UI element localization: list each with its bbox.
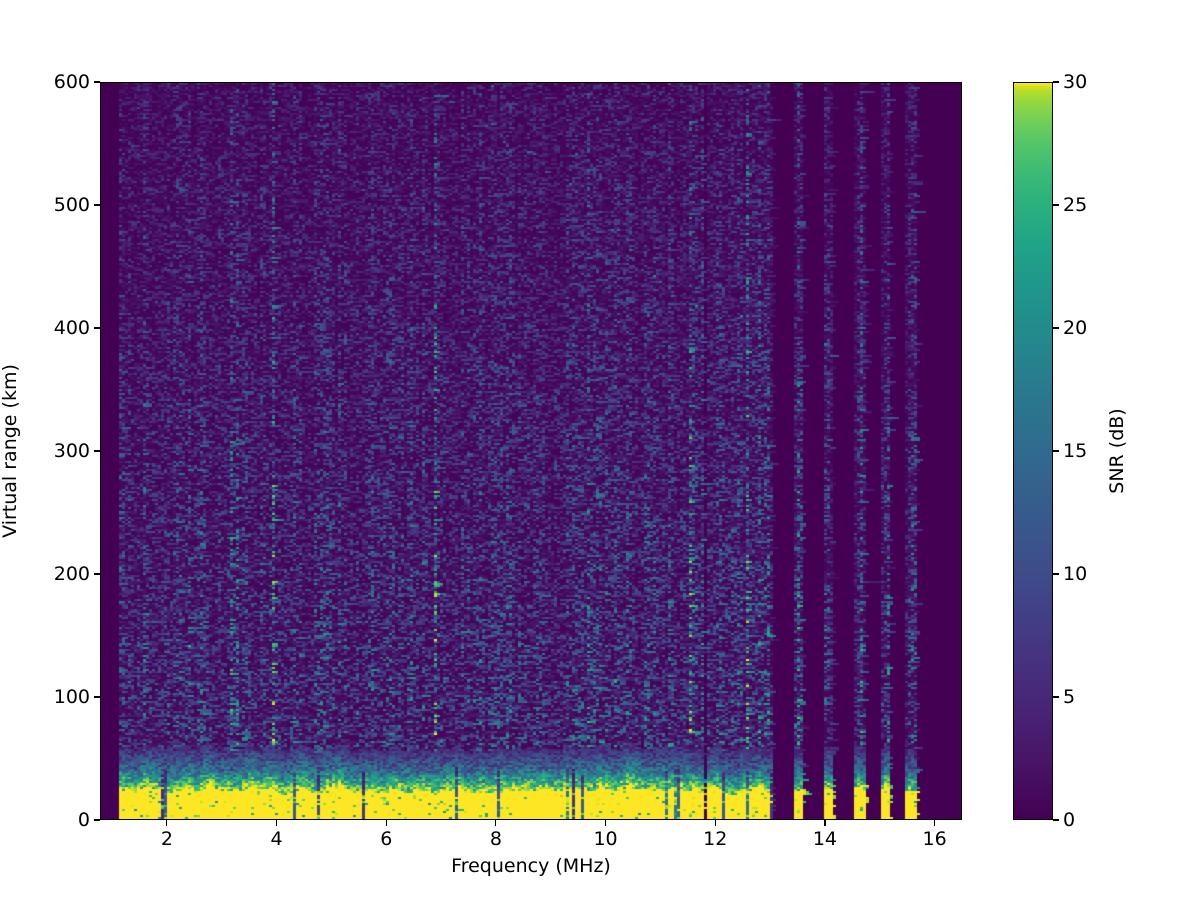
y-tick-mark	[94, 450, 100, 451]
x-tick-label: 10	[593, 828, 617, 850]
colorbar[interactable]	[1013, 82, 1053, 820]
x-tick-label: 4	[271, 828, 283, 850]
x-tick-mark	[495, 820, 496, 826]
colorbar-tick-mark	[1053, 327, 1059, 328]
colorbar-tick-label: 0	[1063, 809, 1075, 831]
colorbar-tick-mark	[1053, 819, 1059, 820]
colorbar-tick-label: 20	[1063, 317, 1087, 339]
x-tick-label: 16	[922, 828, 946, 850]
y-tick-mark	[94, 696, 100, 697]
colorbar-label: SNR (dB)	[1106, 408, 1128, 493]
y-tick-label: 100	[54, 686, 90, 708]
x-tick-label: 14	[813, 828, 837, 850]
x-tick-mark	[824, 820, 825, 826]
ionogram-heatmap	[101, 83, 961, 819]
x-tick-label: 6	[380, 828, 392, 850]
x-tick-label: 12	[703, 828, 727, 850]
colorbar-tick-mark	[1053, 696, 1059, 697]
colorbar-tick-label: 5	[1063, 686, 1075, 708]
y-tick-mark	[94, 327, 100, 328]
colorbar-tick-mark	[1053, 204, 1059, 205]
y-tick-mark	[94, 573, 100, 574]
colorbar-tick-label: 15	[1063, 440, 1087, 462]
plot-area[interactable]	[100, 82, 962, 820]
colorbar-tick-mark	[1053, 81, 1059, 82]
x-tick-label: 2	[161, 828, 173, 850]
y-tick-label: 300	[54, 440, 90, 462]
colorbar-tick-mark	[1053, 450, 1059, 451]
y-tick-label: 0	[78, 809, 90, 831]
x-axis-label: Frequency (MHz)	[451, 855, 611, 877]
x-tick-mark	[934, 820, 935, 826]
x-tick-mark	[715, 820, 716, 826]
colorbar-tick-label: 25	[1063, 194, 1087, 216]
y-tick-mark	[94, 81, 100, 82]
x-tick-mark	[386, 820, 387, 826]
x-tick-label: 8	[490, 828, 502, 850]
colorbar-tick-label: 10	[1063, 563, 1087, 585]
y-tick-label: 500	[54, 194, 90, 216]
y-tick-label: 400	[54, 317, 90, 339]
y-tick-label: 600	[54, 71, 90, 93]
colorbar-tick-mark	[1053, 573, 1059, 574]
x-tick-mark	[166, 820, 167, 826]
y-axis-label: Virtual range (km)	[0, 364, 21, 538]
x-tick-mark	[605, 820, 606, 826]
y-tick-label: 200	[54, 563, 90, 585]
x-tick-mark	[276, 820, 277, 826]
y-tick-mark	[94, 204, 100, 205]
y-tick-mark	[94, 819, 100, 820]
ionogram-figure: IRF Kiruna Ionosonde KI167 2025-11-29 06…	[0, 0, 1200, 900]
colorbar-tick-label: 30	[1063, 71, 1087, 93]
